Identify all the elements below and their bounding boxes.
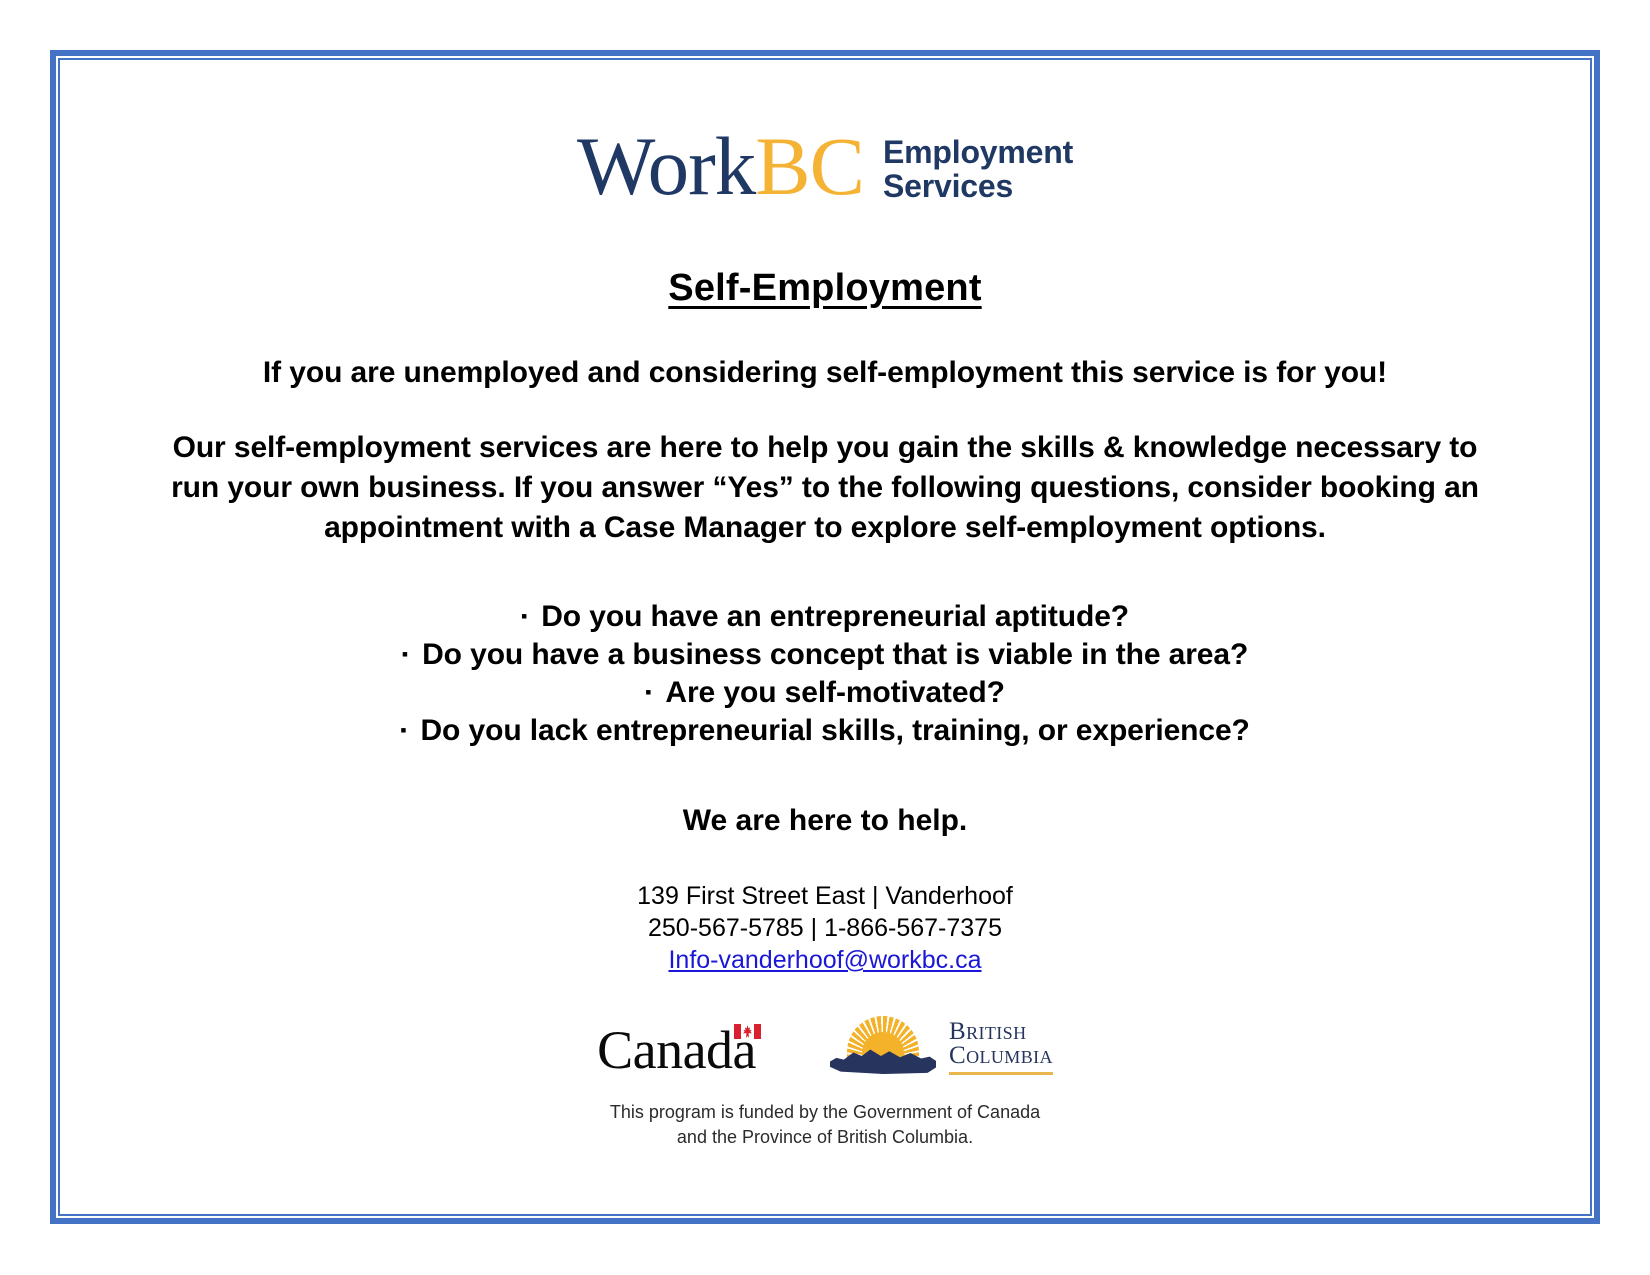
canada-wordmark-text: Canada <box>597 1020 756 1080</box>
workbc-tagline-line2: Services <box>883 168 1013 204</box>
contact-email-link[interactable]: Info-vanderhoof@workbc.ca <box>668 944 981 976</box>
page-title: Self-Employment <box>70 267 1580 310</box>
government-logos: Canada British Columbia <box>70 1014 1580 1078</box>
closing-statement: We are here to help. <box>70 804 1580 838</box>
funding-note: This program is funded by the Government… <box>70 1100 1580 1150</box>
list-item-label: Are you self-motivated? <box>665 676 1004 709</box>
list-item-label: Do you have an entrepreneurial aptitude? <box>541 600 1129 633</box>
workbc-logo: WorkBC Employment Services <box>70 116 1580 224</box>
canada-flag-icon <box>734 1024 761 1039</box>
bc-wordmark-line1: British <box>949 1020 1053 1045</box>
questions-list: ▪Do you have an entrepreneurial aptitude… <box>70 598 1580 750</box>
list-item-label: Do you have a business concept that is v… <box>422 638 1248 671</box>
funding-note-line1: This program is funded by the Government… <box>70 1100 1580 1125</box>
list-item: ▪Do you have an entrepreneurial aptitude… <box>70 598 1580 636</box>
workbc-tagline: Employment Services <box>883 136 1073 204</box>
lede-paragraph: If you are unemployed and considering se… <box>70 356 1580 390</box>
list-item: ▪Do you lack entrepreneurial skills, tra… <box>70 712 1580 750</box>
contact-address: 139 First Street East | Vanderhoof <box>70 880 1580 912</box>
list-item-label: Do you lack entrepreneurial skills, trai… <box>420 714 1249 747</box>
bc-sunburst-mountain-icon <box>830 1016 936 1078</box>
workbc-word-bc: BC <box>755 120 864 212</box>
list-item: ▪Do you have a business concept that is … <box>70 636 1580 674</box>
square-bullet-icon: ▪ <box>402 644 422 664</box>
bc-wordmark-text: British Columbia <box>949 1020 1053 1075</box>
poster-page: WorkBC Employment Services Self-Employme… <box>0 0 1650 1275</box>
square-bullet-icon: ▪ <box>400 720 420 740</box>
contact-block: 139 First Street East | Vanderhoof 250-5… <box>70 880 1580 976</box>
funding-note-line2: and the Province of British Columbia. <box>70 1125 1580 1150</box>
list-item: ▪Are you self-motivated? <box>70 674 1580 712</box>
canada-wordmark-logo: Canada <box>597 1022 756 1078</box>
workbc-wordmark: WorkBC <box>577 125 864 208</box>
square-bullet-icon: ▪ <box>645 682 665 702</box>
square-bullet-icon: ▪ <box>521 606 541 626</box>
body-paragraph: Our self-employment services are here to… <box>160 428 1490 548</box>
workbc-word-work: Work <box>577 120 755 212</box>
poster-content: WorkBC Employment Services Self-Employme… <box>70 70 1580 1204</box>
bc-wordmark-line2: Columbia <box>949 1044 1053 1069</box>
contact-phone: 250-567-5785 | 1-866-567-7375 <box>70 912 1580 944</box>
british-columbia-logo: British Columbia <box>830 1016 1053 1078</box>
workbc-tagline-line1: Employment <box>883 134 1073 170</box>
bc-gold-rule <box>949 1072 1053 1075</box>
